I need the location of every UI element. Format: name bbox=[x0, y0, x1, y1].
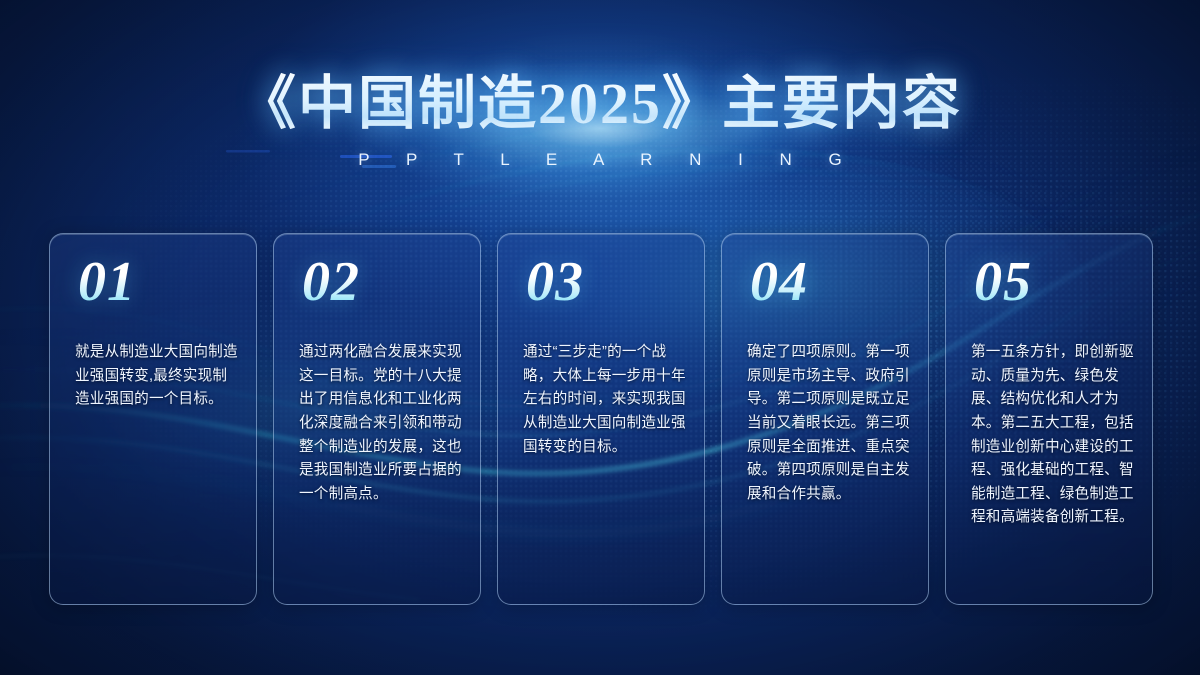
page-title: 《中国制造2025》主要内容 bbox=[0, 72, 1200, 136]
content-card-list: 01 就是从制造业大国向制造业强国转变,最终实现制造业强国的一个目标。 02 通… bbox=[49, 233, 1153, 605]
content-card-05[interactable]: 05 第一五条方针，即创新驱动、质量为先、绿色发展、结构优化和人才为本。第二五大… bbox=[945, 233, 1153, 605]
content-card-04[interactable]: 04 确定了四项原则。第一项原则是市场主导、政府引导。第二项原则是既立足当前又着… bbox=[721, 233, 929, 605]
card-text-04: 确定了四项原则。第一项原则是市场主导、政府引导。第二项原则是既立足当前又着眼长远… bbox=[747, 341, 912, 506]
content-card-03[interactable]: 03 通过“三步走”的一个战略，大体上每一步用十年左右的时间，来实现我国从制造业… bbox=[497, 233, 705, 605]
card-text-05: 第一五条方针，即创新驱动、质量为先、绿色发展、结构优化和人才为本。第二五大工程，… bbox=[971, 341, 1136, 530]
card-number-02: 02 bbox=[302, 254, 360, 310]
card-number-03: 03 bbox=[526, 254, 584, 310]
slide-root: 《中国制造2025》主要内容 P P T L E A R N I N G 01 … bbox=[0, 0, 1200, 675]
card-number-05: 05 bbox=[974, 254, 1032, 310]
card-text-02: 通过两化融合发展来实现这一目标。党的十八大提出了用信息化和工业化两化深度融合来引… bbox=[299, 341, 464, 506]
card-text-03: 通过“三步走”的一个战略，大体上每一步用十年左右的时间，来实现我国从制造业大国向… bbox=[523, 341, 688, 459]
content-card-02[interactable]: 02 通过两化融合发展来实现这一目标。党的十八大提出了用信息化和工业化两化深度融… bbox=[273, 233, 481, 605]
card-number-01: 01 bbox=[78, 254, 136, 310]
card-number-04: 04 bbox=[750, 254, 808, 310]
card-text-01: 就是从制造业大国向制造业强国转变,最终实现制造业强国的一个目标。 bbox=[75, 341, 240, 412]
content-card-01[interactable]: 01 就是从制造业大国向制造业强国转变,最终实现制造业强国的一个目标。 bbox=[49, 233, 257, 605]
title-block: 《中国制造2025》主要内容 P P T L E A R N I N G bbox=[0, 72, 1200, 170]
page-subtitle: P P T L E A R N I N G bbox=[0, 150, 1200, 170]
